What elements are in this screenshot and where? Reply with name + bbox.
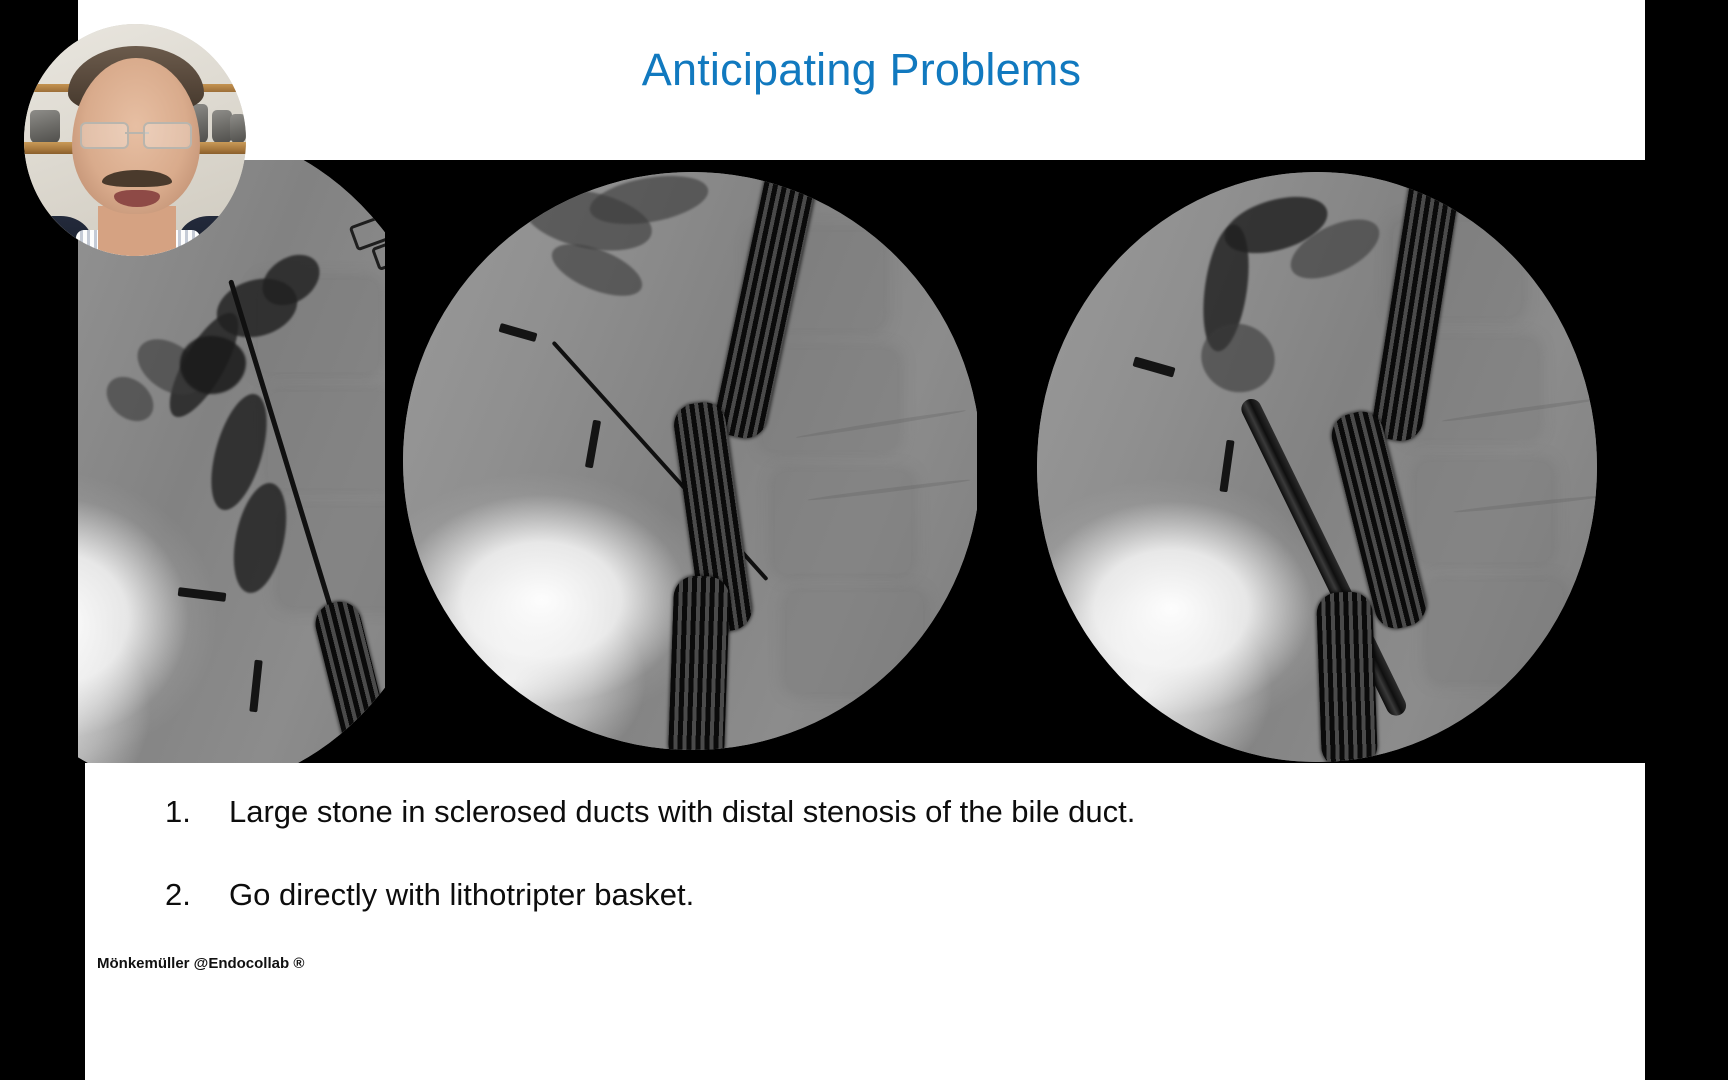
list-item: 1. Large stone in sclerosed ducts with d…: [165, 793, 1565, 832]
footer-credit: Mönkemüller @Endocollab ®: [97, 955, 304, 972]
webcam-pottery: [212, 110, 232, 144]
vertebra-shadow: [268, 392, 385, 488]
presenter-glasses: [78, 122, 194, 146]
endoscope-tip: [668, 575, 731, 750]
vertebra-shadow: [787, 592, 923, 692]
presentation-slide: Anticipating Problems: [0, 0, 1728, 1080]
bullet-content-panel: 1. Large stone in sclerosed ducts with d…: [85, 763, 1645, 1080]
page-title: Anticipating Problems: [78, 44, 1645, 96]
bullet-list: 1. Large stone in sclerosed ducts with d…: [165, 793, 1565, 959]
vertebra-shadow: [1417, 462, 1551, 562]
list-item-number: 1.: [165, 793, 229, 832]
webcam-pottery: [30, 110, 60, 144]
list-item: 2. Go directly with lithotripter basket.: [165, 876, 1565, 915]
presenter-mustache: [102, 170, 172, 187]
fluoroscopy-cholangiogram-2: [385, 160, 977, 763]
fluoroscopy-field-of-view: [403, 172, 977, 750]
title-band: Anticipating Problems: [78, 0, 1645, 183]
glasses-lens-right: [143, 122, 192, 149]
fluoroscopy-cholangiogram-3: [977, 160, 1645, 763]
endoscope-tip: [1316, 591, 1378, 762]
fluoroscopy-image-band: [78, 160, 1645, 763]
vertebra-shadow: [763, 350, 897, 450]
list-item-text: Large stone in sclerosed ducts with dist…: [229, 793, 1565, 832]
fluoroscopy-field-of-view: [1037, 172, 1597, 762]
list-item-text: Go directly with lithotripter basket.: [229, 876, 1565, 915]
list-item-number: 2.: [165, 876, 229, 915]
glasses-lens-left: [80, 122, 129, 149]
presenter-video-bubble[interactable]: [24, 24, 246, 256]
vertebra-shadow: [1429, 582, 1563, 680]
vertebra-shadow: [280, 508, 385, 606]
webcam-pottery: [230, 114, 246, 144]
